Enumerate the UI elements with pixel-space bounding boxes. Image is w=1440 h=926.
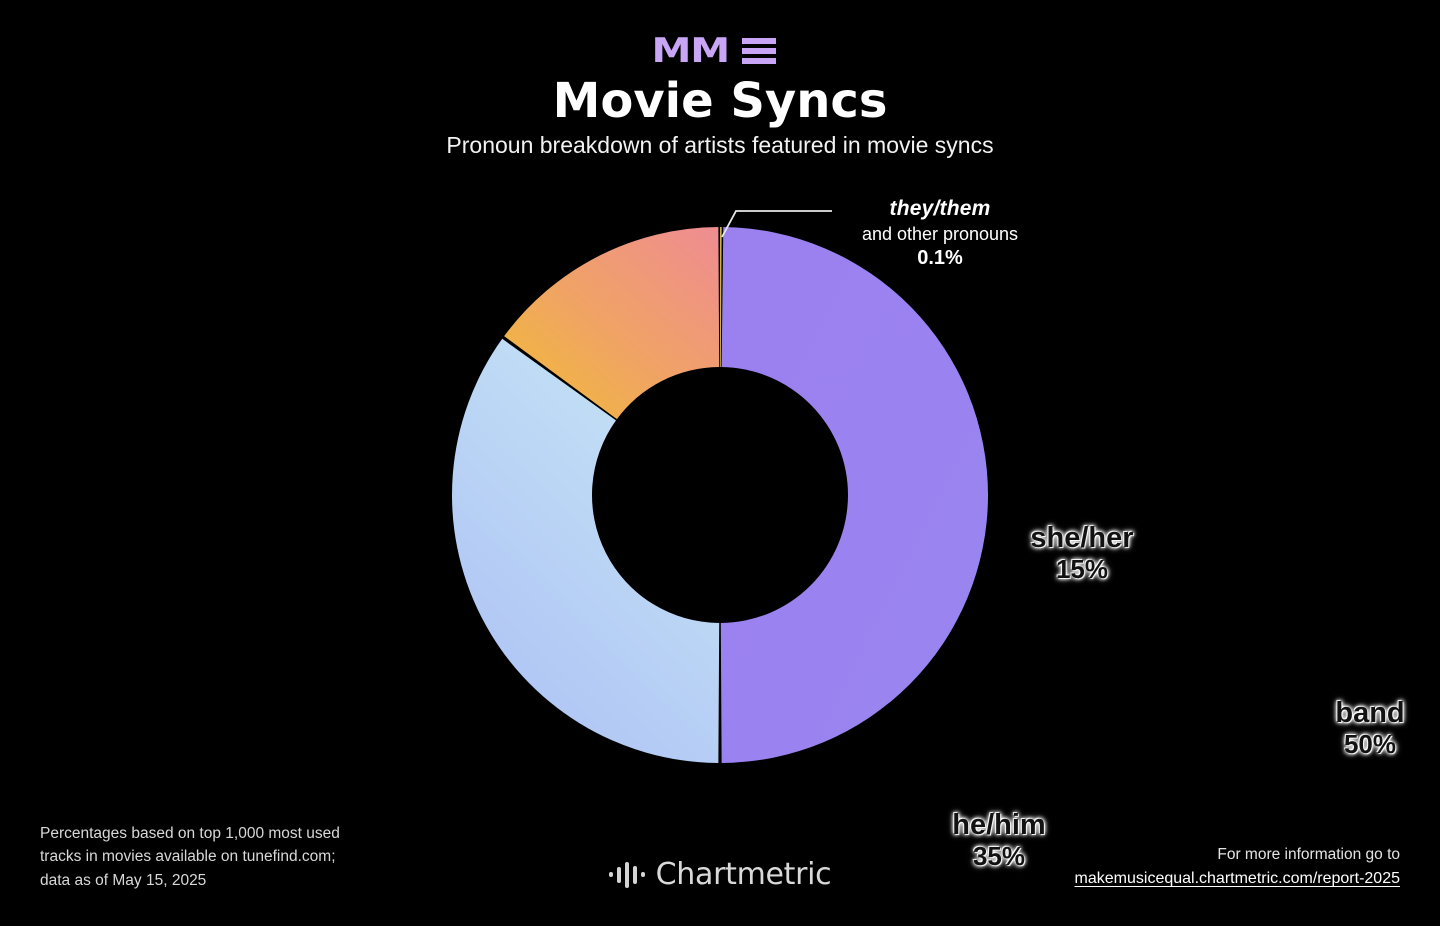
donut-slice-band[interactable] [721,227,988,763]
donut-label-he-him-name: he/him [914,809,1084,841]
report-url-link[interactable]: makemusicequal.chartmetric.com/report-20… [1075,867,1400,892]
donut-label-she-her-value: 15% [994,555,1170,584]
donut-label-band: band 50% [1290,697,1440,760]
donut-slices [452,227,988,763]
donut-label-she-her-name: she/her [994,522,1170,554]
audio-waveform-icon [609,858,645,892]
more-info: For more information go to makemusicequa… [980,843,1400,892]
donut-chart: band 50% he/him 35% she/her 15% [452,227,988,763]
three-bars-equal-icon [742,38,776,64]
callout-they-them-value: 0.1% [810,247,1070,271]
donut-label-she-her: she/her 15% [994,522,1170,585]
donut-label-band-name: band [1290,697,1440,729]
mme-brand-logo: MM [0,34,1440,68]
callout-they-them-subtext: and other pronouns [810,224,1070,245]
more-info-label: For more information go to [980,843,1400,867]
donut-chart-svg [452,227,988,763]
callout-they-them: they/them and other pronouns 0.1% [810,197,1070,271]
callout-they-them-name: they/them [810,197,1070,222]
chartmetric-wordmark: Chartmetric [656,857,832,892]
donut-label-band-value: 50% [1290,730,1440,759]
page-title: Movie Syncs [0,75,1440,128]
mme-logo-text: MM [652,34,734,68]
page-subtitle: Pronoun breakdown of artists featured in… [0,132,1440,160]
footnote-line-1: Percentages based on top 1,000 most used [40,822,420,845]
donut-slice-he-him[interactable] [452,339,719,763]
